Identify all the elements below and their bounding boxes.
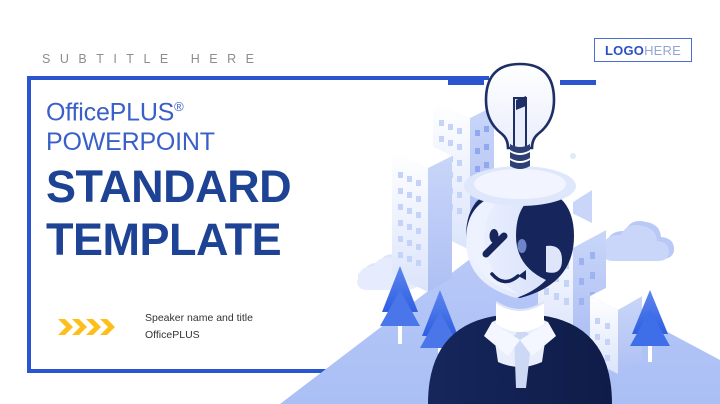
speaker-block: Speaker name and title OfficePLUS [58,310,253,344]
head-rim-inner [474,169,566,199]
cloud-right-icon [602,221,674,261]
chevron-group-icon [58,317,120,337]
title-line-1-text: OfficePLUS [46,98,174,126]
ray-left [448,80,484,85]
subtitle-text: SUBTITLE HERE [42,52,263,66]
speaker-text-group: Speaker name and title OfficePLUS [145,310,253,344]
eye-right [518,239,527,253]
slide-canvas: SUBTITLE HERE LOGO HERE OfficePLUS® POWE… [0,0,720,404]
speaker-org: OfficePLUS [145,327,253,344]
ray-right [560,80,596,85]
bulb-base [510,144,530,169]
hero-illustration [270,40,720,404]
registered-mark: ® [174,99,183,114]
frame-left-border [27,76,31,373]
speaker-name: Speaker name and title [145,310,253,327]
